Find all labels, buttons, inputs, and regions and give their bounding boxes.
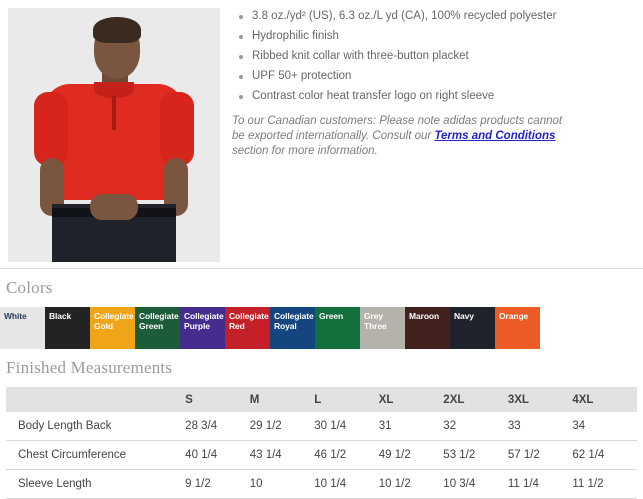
color-swatch[interactable]: Collegiate Red — [225, 307, 270, 349]
product-overview-section: 3.8 oz./yd² (US), 6.3 oz./L yd (CA), 100… — [0, 0, 643, 262]
list-item: Hydrophilic finish — [232, 30, 635, 43]
color-swatch[interactable]: Collegiate Purple — [180, 307, 225, 349]
measurement-value: 62 1/4 — [572, 441, 637, 470]
product-photo[interactable] — [8, 8, 220, 262]
measurement-value: 10 — [250, 470, 315, 499]
measurement-row-label: Sleeve Length — [6, 470, 185, 499]
table-header: SMLXL2XL3XL4XL — [6, 387, 637, 412]
table-col-header-xl: XL — [379, 387, 444, 412]
color-swatch[interactable]: Navy — [450, 307, 495, 349]
table-col-header-s: S — [185, 387, 250, 412]
colors-heading: Colors — [6, 278, 643, 298]
measurements-table: SMLXL2XL3XL4XL Body Length Back28 3/429 … — [6, 387, 637, 499]
measurement-value: 11 1/2 — [572, 470, 637, 499]
table-col-header-3xl: 3XL — [508, 387, 573, 412]
finished-measurements-heading: Finished Measurements — [6, 358, 643, 378]
measurement-row-label: Body Length Back — [6, 412, 185, 441]
color-swatch-row: WhiteBlackCollegiate GoldCollegiate Gree… — [0, 307, 643, 349]
feature-text: Hydrophilic finish — [252, 30, 339, 42]
measurement-value: 9 1/2 — [185, 470, 250, 499]
list-item: UPF 50+ protection — [232, 70, 635, 83]
list-item: Contrast color heat transfer logo on rig… — [232, 90, 635, 103]
measurement-value: 53 1/2 — [443, 441, 508, 470]
color-swatch[interactable]: Black — [45, 307, 90, 349]
table-row: Sleeve Length9 1/21010 1/410 1/210 3/411… — [6, 470, 637, 499]
color-swatch[interactable]: Collegiate Green — [135, 307, 180, 349]
table-body: Body Length Back28 3/429 1/230 1/4313233… — [6, 412, 637, 499]
table-header-row: SMLXL2XL3XL4XL — [6, 387, 637, 412]
table-col-header-4xl: 4XL — [572, 387, 637, 412]
feature-list: 3.8 oz./yd² (US), 6.3 oz./L yd (CA), 100… — [232, 10, 635, 103]
product-features-column: 3.8 oz./yd² (US), 6.3 oz./L yd (CA), 100… — [230, 0, 643, 171]
color-swatch[interactable]: Grey Three — [360, 307, 405, 349]
measurement-value: 28 3/4 — [185, 412, 250, 441]
polo-sleeve-right — [160, 92, 194, 166]
table-col-header-m: M — [250, 387, 315, 412]
measurement-value: 10 3/4 — [443, 470, 508, 499]
table-row: Body Length Back28 3/429 1/230 1/4313233… — [6, 412, 637, 441]
color-swatch[interactable]: White — [0, 307, 45, 349]
color-swatch[interactable]: Maroon — [405, 307, 450, 349]
measurement-value: 46 1/2 — [314, 441, 379, 470]
finished-measurements-section: Finished Measurements SMLXL2XL3XL4XL Bod… — [0, 358, 643, 499]
measurement-value: 29 1/2 — [250, 412, 315, 441]
measurement-value: 43 1/4 — [250, 441, 315, 470]
measurement-value: 30 1/4 — [314, 412, 379, 441]
measurement-row-label: Chest Circumference — [6, 441, 185, 470]
feature-text: UPF 50+ protection — [252, 70, 351, 82]
terms-and-conditions-link[interactable]: Terms and Conditions — [434, 130, 555, 142]
table-col-header-l: L — [314, 387, 379, 412]
measurement-value: 10 1/4 — [314, 470, 379, 499]
feature-text: 3.8 oz./yd² (US), 6.3 oz./L yd (CA), 100… — [252, 10, 556, 22]
measurement-value: 32 — [443, 412, 508, 441]
polo-placket — [112, 96, 116, 130]
measurement-value: 57 1/2 — [508, 441, 573, 470]
note-text-after: section for more information. — [232, 145, 378, 157]
color-swatch[interactable]: Collegiate Royal — [270, 307, 315, 349]
product-image-container[interactable] — [0, 0, 230, 262]
measurement-value: 33 — [508, 412, 573, 441]
model-hair — [93, 17, 141, 43]
section-divider — [0, 268, 643, 269]
table-row: Chest Circumference40 1/443 1/446 1/249 … — [6, 441, 637, 470]
measurement-value: 40 1/4 — [185, 441, 250, 470]
measurement-value: 31 — [379, 412, 444, 441]
table-col-header-blank — [6, 387, 185, 412]
model-hands — [90, 194, 138, 220]
measurement-value: 11 1/4 — [508, 470, 573, 499]
feature-text: Contrast color heat transfer logo on rig… — [252, 90, 494, 102]
list-item: Ribbed knit collar with three-button pla… — [232, 50, 635, 63]
color-swatch[interactable]: Orange — [495, 307, 540, 349]
color-swatch[interactable]: Green — [315, 307, 360, 349]
polo-sleeve-left — [34, 92, 68, 166]
measurement-value: 10 1/2 — [379, 470, 444, 499]
list-item: 3.8 oz./yd² (US), 6.3 oz./L yd (CA), 100… — [232, 10, 635, 23]
color-swatch[interactable]: Collegiate Gold — [90, 307, 135, 349]
measurement-value: 49 1/2 — [379, 441, 444, 470]
canadian-customers-note: To our Canadian customers: Please note a… — [232, 114, 577, 159]
measurement-value: 34 — [572, 412, 637, 441]
table-col-header-2xl: 2XL — [443, 387, 508, 412]
feature-text: Ribbed knit collar with three-button pla… — [252, 50, 469, 62]
